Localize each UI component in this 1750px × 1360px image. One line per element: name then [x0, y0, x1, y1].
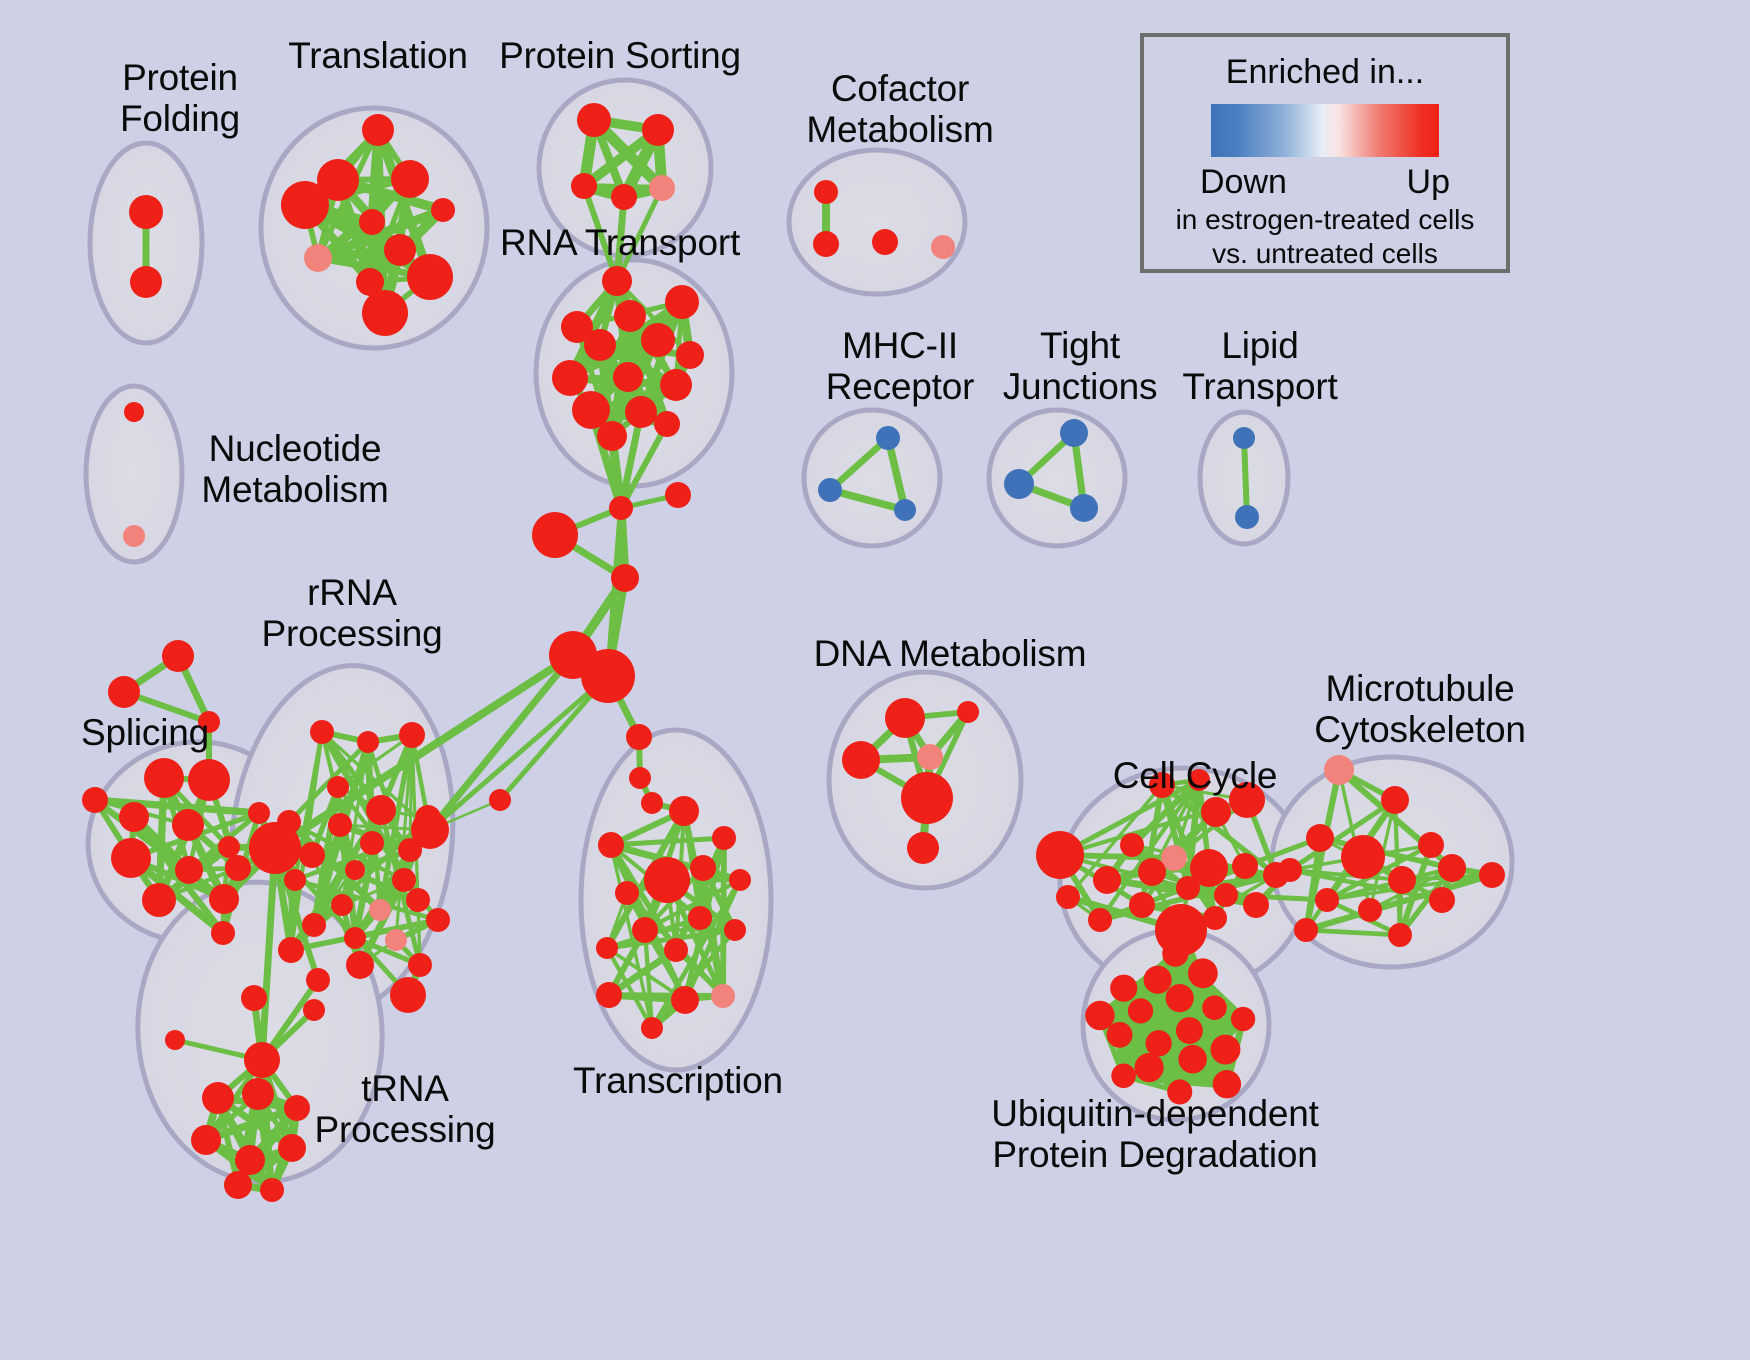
network-node — [1479, 862, 1505, 888]
network-node — [411, 811, 449, 849]
network-node — [598, 832, 624, 858]
network-node — [584, 329, 616, 361]
network-node — [191, 1125, 221, 1155]
network-node — [362, 114, 394, 146]
network-node — [124, 402, 144, 422]
network-node — [957, 701, 979, 723]
network-node — [729, 869, 751, 891]
network-node — [399, 722, 425, 748]
legend-label-up: Up — [1407, 163, 1450, 202]
network-node — [281, 181, 329, 229]
network-node — [384, 234, 416, 266]
network-node — [642, 114, 674, 146]
network-node — [552, 360, 588, 396]
network-node — [241, 985, 267, 1011]
network-node — [1232, 853, 1258, 879]
network-node — [609, 496, 633, 520]
network-node — [532, 512, 578, 558]
network-node — [1203, 906, 1227, 930]
network-node — [303, 999, 325, 1021]
network-node — [302, 913, 326, 937]
network-node — [129, 195, 163, 229]
network-node — [676, 341, 704, 369]
network-node — [360, 831, 384, 855]
network-node — [1235, 505, 1259, 529]
network-node — [1088, 908, 1112, 932]
cluster-hull-mhc-ii-receptor — [804, 410, 940, 546]
network-node — [366, 795, 396, 825]
network-node — [1294, 918, 1318, 942]
network-node — [1388, 923, 1412, 947]
network-node — [162, 640, 194, 672]
network-node — [1178, 1045, 1207, 1074]
network-node — [426, 908, 450, 932]
network-node — [581, 649, 635, 703]
network-node — [407, 254, 453, 300]
cluster-label-protein-sorting: Protein Sorting — [490, 35, 750, 76]
network-node — [632, 917, 658, 943]
network-node — [172, 809, 204, 841]
network-node — [654, 411, 680, 437]
network-node — [602, 266, 632, 296]
network-node — [1110, 975, 1137, 1002]
network-node — [665, 482, 691, 508]
network-node — [1134, 1053, 1163, 1082]
cluster-label-lipid-transport: Lipid Transport — [1165, 325, 1355, 408]
network-node — [1214, 883, 1238, 907]
cluster-label-splicing: Splicing — [55, 712, 235, 753]
network-node — [597, 421, 627, 451]
network-node — [1144, 966, 1172, 994]
network-node — [1278, 858, 1302, 882]
network-node — [119, 802, 149, 832]
network-node — [1381, 786, 1409, 814]
network-node — [144, 758, 184, 798]
cluster-label-rna-transport: RNA Transport — [495, 222, 745, 263]
network-node — [671, 986, 699, 1014]
network-node — [142, 883, 176, 917]
network-node — [391, 160, 429, 198]
network-node — [1211, 1035, 1241, 1065]
network-node — [665, 285, 699, 319]
cluster-label-tight-junctions: Tight Junctions — [985, 325, 1175, 408]
network-node — [1128, 998, 1153, 1023]
network-node — [907, 832, 939, 864]
network-node — [872, 229, 898, 255]
network-node — [917, 744, 943, 770]
cluster-label-cell-cycle: Cell Cycle — [1090, 755, 1300, 796]
network-node — [1188, 958, 1218, 988]
network-node — [1138, 858, 1166, 886]
cluster-label-rrna-processing: rRNA Processing — [252, 572, 452, 655]
legend-title: Enriched in... — [1226, 53, 1424, 92]
network-node — [1129, 892, 1155, 918]
cluster-label-microtubule-cytoskeleton: Microtubule Cytoskeleton — [1290, 668, 1550, 751]
network-node — [613, 362, 643, 392]
network-node — [571, 173, 597, 199]
cluster-label-translation: Translation — [258, 35, 498, 76]
network-node — [1176, 876, 1200, 900]
network-node — [626, 724, 652, 750]
network-node — [1388, 866, 1416, 894]
network-node — [306, 968, 330, 992]
network-node — [1243, 892, 1269, 918]
network-node — [818, 478, 842, 502]
network-node — [1418, 832, 1444, 858]
network-node — [431, 198, 455, 222]
network-node — [385, 929, 407, 951]
network-node — [359, 209, 385, 235]
network-node — [641, 323, 675, 357]
network-node — [669, 796, 699, 826]
network-node — [123, 525, 145, 547]
network-node — [1070, 494, 1098, 522]
network-node — [876, 426, 900, 450]
network-node — [1111, 1063, 1136, 1088]
network-node — [1093, 866, 1121, 894]
network-node — [1324, 755, 1354, 785]
network-node — [1120, 833, 1144, 857]
legend-subtitle-line1: in estrogen-treated cells — [1176, 204, 1475, 235]
network-node — [304, 244, 332, 272]
network-node — [111, 838, 151, 878]
network-node — [202, 1082, 234, 1114]
network-node — [1004, 469, 1034, 499]
network-node — [165, 1030, 185, 1050]
network-node — [357, 731, 379, 753]
network-node — [108, 676, 140, 708]
network-node — [690, 855, 716, 881]
network-node — [248, 802, 270, 824]
network-node — [1060, 419, 1088, 447]
network-node — [225, 855, 251, 881]
network-node — [327, 776, 349, 798]
network-node — [629, 767, 651, 789]
network-node — [614, 300, 646, 332]
network-node — [209, 884, 239, 914]
network-node — [1429, 887, 1455, 913]
network-node — [724, 919, 746, 941]
network-node — [1085, 1001, 1114, 1030]
network-node — [611, 184, 637, 210]
network-node — [244, 1042, 280, 1078]
network-node — [278, 1134, 306, 1162]
network-node — [1315, 888, 1339, 912]
network-node — [489, 789, 511, 811]
figure-root: Protein Folding Translation Protein Sort… — [0, 0, 1750, 1360]
cluster-label-trna-processing: tRNA Processing — [305, 1068, 505, 1151]
legend-box: Enriched in... Down Up in estrogen-treat… — [1140, 33, 1510, 273]
network-node — [711, 984, 735, 1008]
network-node — [1438, 854, 1466, 882]
network-node — [260, 1178, 284, 1202]
network-node — [688, 906, 712, 930]
network-node — [82, 787, 108, 813]
cluster-hull-cofactor-metabolism — [789, 150, 965, 294]
network-node — [392, 868, 416, 892]
network-node — [310, 720, 334, 744]
network-node — [931, 235, 955, 259]
network-node — [345, 860, 365, 880]
network-node — [615, 881, 639, 905]
cluster-label-ubiquitin-degradation: Ubiquitin-dependent Protein Degradation — [985, 1093, 1325, 1176]
network-node — [814, 180, 838, 204]
network-node — [224, 1171, 252, 1199]
network-node — [611, 564, 639, 592]
network-node — [362, 290, 408, 336]
network-node — [664, 938, 688, 962]
network-node — [1341, 835, 1385, 879]
network-node — [1358, 898, 1382, 922]
network-node — [641, 792, 663, 814]
network-node — [278, 937, 304, 963]
legend-endpoint-labels: Down Up — [1200, 163, 1450, 202]
network-node — [211, 921, 235, 945]
network-node — [331, 894, 353, 916]
network-node — [660, 369, 692, 401]
network-node — [188, 759, 230, 801]
cluster-label-mhc-ii-receptor: MHC-II Receptor — [800, 325, 1000, 408]
network-node — [344, 927, 366, 949]
cluster-label-nucleotide-metabolism: Nucleotide Metabolism — [185, 428, 405, 511]
network-node — [644, 857, 690, 903]
cluster-label-transcription: Transcription — [568, 1060, 788, 1101]
network-node — [1176, 1017, 1203, 1044]
network-node — [901, 772, 953, 824]
network-node — [249, 822, 301, 874]
network-node — [1036, 831, 1084, 879]
network-node — [390, 977, 426, 1013]
network-node — [175, 856, 203, 884]
network-node — [346, 951, 374, 979]
network-node — [1201, 797, 1231, 827]
network-node — [1231, 1007, 1255, 1031]
network-node — [408, 953, 432, 977]
network-node — [842, 741, 880, 779]
network-node — [1166, 984, 1194, 1012]
network-node — [1233, 427, 1255, 449]
network-node — [641, 1017, 663, 1039]
legend-subtitle-line2: vs. untreated cells — [1212, 238, 1438, 269]
network-node — [235, 1145, 265, 1175]
network-node — [1056, 885, 1080, 909]
network-node — [406, 888, 430, 912]
network-node — [1145, 1030, 1171, 1056]
network-node — [596, 982, 622, 1008]
network-node — [218, 836, 240, 858]
network-node — [596, 937, 618, 959]
network-node — [299, 842, 325, 868]
network-node — [813, 231, 839, 257]
cluster-label-protein-folding: Protein Folding — [80, 57, 280, 140]
network-node — [712, 826, 736, 850]
network-node — [328, 813, 352, 837]
network-node — [242, 1078, 274, 1110]
network-node — [894, 499, 916, 521]
legend-label-down: Down — [1200, 163, 1287, 202]
network-node — [625, 396, 657, 428]
network-node — [577, 103, 611, 137]
network-node — [649, 175, 675, 201]
network-node — [885, 698, 925, 738]
legend-color-gradient-bar — [1211, 104, 1439, 157]
network-node — [130, 266, 162, 298]
cluster-label-dna-metabolism: DNA Metabolism — [810, 633, 1090, 674]
network-node — [1306, 824, 1334, 852]
network-node — [369, 899, 391, 921]
cluster-label-cofactor-metabolism: Cofactor Metabolism — [790, 68, 1010, 151]
network-node — [284, 869, 306, 891]
network-node — [1202, 995, 1227, 1020]
network-node — [1162, 940, 1188, 966]
